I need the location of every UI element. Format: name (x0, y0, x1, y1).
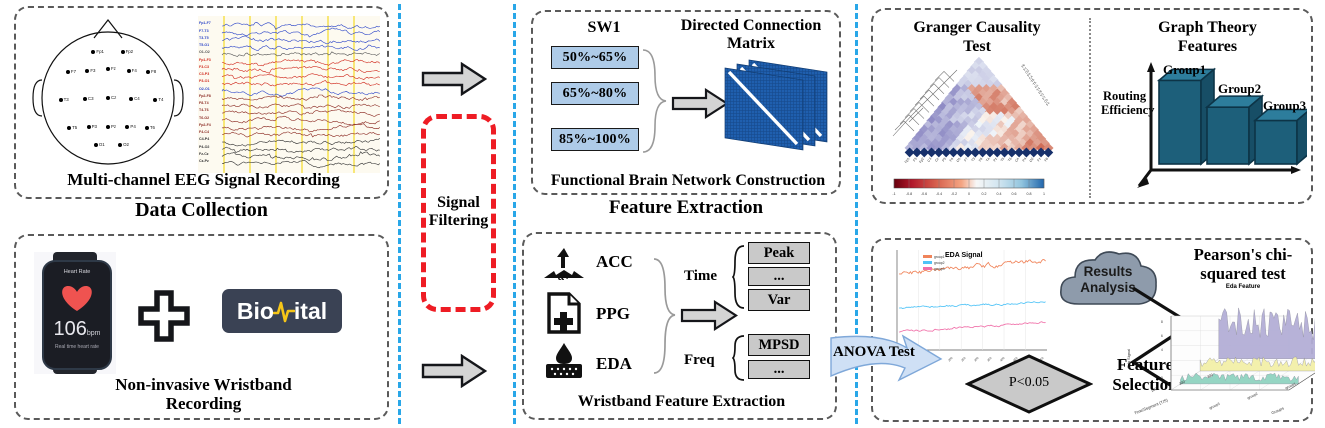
arrow-signals-to-features (680, 300, 738, 331)
electrode-label-c3: C3 (88, 96, 94, 101)
signal-label-ppg: PPG (596, 304, 630, 324)
y-tick-0: group1 (1285, 382, 1297, 391)
svg-text:T6: T6 (1007, 157, 1013, 163)
electrode-label-p4: P4 (130, 124, 135, 129)
z-tick-1: 2 (1161, 362, 1163, 366)
svg-text:T3: T3 (971, 157, 977, 163)
panel-eeg-recording: Fp1Fp2F7F3FzF4F8T3C3CzC4T4T5P3PzP4T6O1O2… (14, 6, 389, 199)
sw1-title: SW1 (558, 20, 650, 37)
feature-box-freq-ellipsis[interactable]: ... (748, 360, 810, 379)
watch-subtitle: Real time heart rate (44, 344, 110, 350)
waveform-v-icon (273, 298, 295, 324)
svg-text:a+: a+ (558, 271, 571, 282)
eeg-waveform-svg (198, 16, 380, 173)
electrode-label-t6: T6 (150, 125, 155, 130)
electrode-label-f8: F8 (151, 69, 156, 74)
electrode-group: Fp1Fp2F7F3FzF4F8T3C3CzC4T4T5P3PzP4T6O1O2 (28, 14, 188, 172)
plus-symbol-icon (138, 290, 190, 347)
z-tick-0: 0 (1161, 376, 1163, 380)
electrode-label-fp1: Fp1 (96, 49, 104, 54)
svg-text:F6: F6 (1044, 157, 1050, 163)
eeg-channel-label: Fz-Cz (199, 152, 209, 156)
divider-mid (513, 4, 516, 424)
biovital-logo: Bio ital (222, 289, 342, 333)
svg-text:F3: F3 (912, 157, 918, 163)
svg-text:T4: T4 (985, 157, 991, 163)
electrode-label-o1: O1 (99, 142, 105, 147)
electrode-c3 (83, 97, 87, 101)
wristband-caption-line2: Recording (16, 395, 391, 413)
svg-text:P3: P3 (941, 157, 947, 163)
sw-band-1[interactable]: 65%~80% (551, 82, 639, 105)
svg-text:group3: group3 (934, 267, 945, 271)
svg-text:F4: F4 (949, 157, 955, 163)
brace-sw-bands (641, 46, 669, 156)
electrode-pz (106, 125, 110, 129)
domain-label-time: Time (684, 268, 717, 285)
electrode-label-c4: C4 (134, 96, 140, 101)
eeg-channel-label: F7-T3 (199, 29, 209, 33)
svg-text:-0.6: -0.6 (921, 192, 927, 196)
arrow-filter-to-features (421, 354, 487, 388)
wristband-features-caption: Wristband Feature Extraction (524, 394, 839, 411)
electrode-o1 (94, 143, 98, 147)
graph-theory-title-line1: Graph Theory (1105, 20, 1310, 37)
svg-text:Fp1: Fp1 (904, 157, 911, 164)
electrode-label-f4: F4 (132, 68, 137, 73)
svg-text:0.6: 0.6 (1012, 192, 1017, 196)
svg-text:-1: -1 (892, 192, 895, 196)
svg-text:Fp2: Fp2 (918, 157, 925, 164)
svg-text:0.2: 0.2 (982, 192, 987, 196)
panel-granger-graph-theory: Granger Causality Test Fp1F3Fp2C3CzP3F4O… (871, 8, 1313, 204)
directed-connection-matrix-icon (715, 56, 835, 160)
eeg-channel-label: T3-T5 (199, 36, 209, 40)
electrode-fp2 (121, 50, 125, 54)
brace-freq-features (732, 334, 746, 382)
watch-heart-rate-title: Heart Rate (44, 269, 110, 275)
eda-icon (543, 342, 585, 380)
feature-box-time-ellipsis[interactable]: ... (748, 267, 810, 286)
y-tick-1: group2 (1247, 392, 1259, 401)
svg-text:T5: T5 (1000, 157, 1006, 163)
eeg-channel-label: F8-T4 (199, 101, 209, 105)
electrode-label-f3: F3 (90, 68, 95, 73)
feature-box-peak[interactable]: Peak (748, 242, 810, 264)
panel-results-analysis: group1group2group30501001502002503003504… (871, 238, 1313, 422)
svg-text:F7: F7 (963, 157, 969, 163)
electrode-label-o2: O2 (123, 142, 129, 147)
electrode-t6 (145, 126, 149, 130)
z-tick-3: 6 (1161, 334, 1163, 338)
axis-label-eda-signal: Eda Signal (1126, 349, 1131, 368)
svg-text:0: 0 (968, 192, 970, 196)
section-label-feature-extraction: Feature Extraction (531, 198, 841, 218)
signal-label-acc: ACC (596, 252, 633, 272)
feature-box-mpsd[interactable]: MPSD (748, 334, 810, 356)
electrode-label-cz: Cz (111, 95, 116, 100)
eda-feature-3d-title: Eda Feature (1183, 284, 1303, 290)
chi-squared-title-line2: squared test (1173, 265, 1313, 282)
ppg-icon (546, 292, 582, 334)
svg-text:0.8: 0.8 (1027, 192, 1032, 196)
eeg-channel-label: F3-C3 (199, 65, 209, 69)
electrode-f4 (127, 69, 131, 73)
z-tick-4: 8 (1161, 320, 1163, 324)
feature-box-var[interactable]: Var (748, 289, 810, 311)
smartwatch-image: Heart Rate 106bpm Real time heart rate (34, 252, 116, 374)
eeg-channel-label: P3-O1 (199, 79, 209, 83)
panel-brain-network: SW1 50%~65% 65%~80% 85%~100% Directed Co… (531, 10, 841, 195)
eeg-channel-label: C3-P3 (199, 72, 209, 76)
brace-time-features (732, 244, 746, 310)
electrode-label-fz: Fz (111, 66, 116, 71)
eeg-channel-label: Fp2-F4 (199, 123, 211, 127)
p-value-diamond: P<0.05 (965, 353, 1093, 415)
anova-test-label: ANOVA Test (833, 344, 915, 361)
watch-hr-unit: bpm (87, 330, 101, 337)
svg-text:0.4: 0.4 (997, 192, 1002, 196)
svg-text:O1: O1 (956, 157, 962, 163)
eeg-head-map: Fp1Fp2F7F3FzF4F8T3C3CzC4T4T5P3PzP4T6O1O2 (28, 14, 188, 172)
electrode-f7 (66, 70, 70, 74)
eeg-channel-label: O1-O2 (199, 50, 210, 54)
eeg-channel-label: Cz-Pz (199, 159, 209, 163)
electrode-t5 (67, 126, 71, 130)
divider-left (398, 4, 401, 424)
svg-text:C3: C3 (927, 157, 933, 163)
electrode-label-p3: P3 (92, 124, 97, 129)
brace-signals (652, 256, 678, 376)
granger-colorbar: -1-0.8-0.6-0.4-0.200.20.40.60.81 (889, 178, 1049, 197)
axis-label-groups: Groups (1271, 406, 1285, 416)
eeg-channel-label: C4-P4 (199, 137, 209, 141)
electrode-label-t4: T4 (158, 97, 163, 102)
svg-text:group2: group2 (934, 261, 945, 265)
axis-label-time-segment: Time/Segment (T/S) (1133, 397, 1168, 415)
svg-text:-0.4: -0.4 (936, 192, 942, 196)
granger-title-line1: Granger Causality (877, 20, 1077, 37)
arrow-eeg-to-filter (421, 62, 487, 96)
y-tick-2: group3 (1209, 402, 1221, 411)
svg-text:200: 200 (947, 356, 954, 363)
brain-network-caption: Functional Brain Network Construction (533, 173, 843, 190)
electrode-label-t3: T3 (64, 97, 69, 102)
electrode-c4 (129, 97, 133, 101)
eeg-trace-plot: Fp1-F7F7-T3T3-T5T5-O1O1-O2Fp1-F3F3-C3C3-… (198, 16, 380, 173)
eeg-channel-label: P4-O2 (199, 145, 209, 149)
x-tick-2: 300 (1206, 373, 1213, 379)
matrix-title-line1: Directed Connection (659, 18, 843, 35)
svg-text:Pz: Pz (993, 157, 999, 163)
domain-label-freq: Freq (684, 352, 715, 369)
inner-divider (1089, 18, 1091, 198)
electrode-label-fp2: Fp2 (126, 49, 134, 54)
bar-label-group2: Group2 (1218, 81, 1261, 97)
electrode-fp1 (91, 50, 95, 54)
eeg-channel-label: Fp1-F3 (199, 58, 211, 62)
section-label-data-collection: Data Collection (14, 200, 389, 221)
electrode-label-pz: Pz (111, 124, 116, 129)
p-value-text: P<0.05 (965, 375, 1093, 391)
eeg-caption: Multi-channel EEG Signal Recording (16, 171, 391, 189)
electrode-fz (106, 67, 110, 71)
x-tick-1: 200 (1178, 380, 1185, 386)
svg-text:-0.2: -0.2 (951, 192, 957, 196)
signal-filtering-label-line2: Filtering (421, 213, 496, 230)
electrode-label-t5: T5 (72, 125, 77, 130)
eeg-channel-label: F4-C4 (199, 130, 209, 134)
eda-plot-title: EDA Signal (945, 252, 982, 259)
eeg-channel-label: T4-T6 (199, 108, 209, 112)
eeg-channel-label: Fp2-F8 (199, 94, 211, 98)
biovital-text-bio: Bio (237, 298, 274, 325)
electrode-f3 (85, 69, 89, 73)
sw-band-2[interactable]: 85%~100% (551, 128, 639, 151)
granger-heatmap: Fp1F3Fp2C3CzP3F4O1F7T3F8T4PzT5T6C4P4O2Fz… (879, 56, 1079, 171)
cloud-line1: Results (1053, 264, 1163, 279)
x-tick-0: 100 (1150, 387, 1157, 393)
chi-squared-title-line1: Pearson's chi- (1173, 246, 1313, 263)
eeg-channel-label: T5-O1 (199, 43, 209, 47)
electrode-f8 (146, 70, 150, 74)
eeg-channel-label: Fp1-F7 (199, 21, 211, 25)
panel-wristband-recording: Heart Rate 106bpm Real time heart rate B… (14, 234, 389, 420)
matrix-title-line2: Matrix (659, 36, 843, 53)
electrode-p3 (87, 125, 91, 129)
svg-text:Fz: Fz (1036, 157, 1042, 163)
svg-text:-0.8: -0.8 (906, 192, 912, 196)
z-tick-2: 4 (1161, 348, 1163, 352)
electrode-o2 (118, 143, 122, 147)
svg-text:Cz: Cz (934, 157, 940, 163)
svg-text:F4: F4 (1045, 101, 1051, 107)
svg-text:group1: group1 (934, 255, 945, 259)
eeg-channel-label: O2-O1 (199, 87, 210, 91)
svg-text:1: 1 (1043, 192, 1045, 196)
watch-body: Heart Rate 106bpm Real time heart rate (42, 260, 112, 370)
electrode-label-f7: F7 (71, 69, 76, 74)
wristband-caption-line1: Non-invasive Wristband (16, 376, 391, 394)
bar-label-group3: Group3 (1263, 98, 1306, 114)
accelerometer-icon: a+ (542, 246, 586, 282)
bar-label-group1: Group1 (1163, 62, 1206, 78)
signal-filtering-label-line1: Signal (421, 195, 496, 212)
svg-text:F8: F8 (978, 157, 984, 163)
watch-hr-value: 106 (54, 318, 87, 340)
svg-text:P4: P4 (1022, 157, 1028, 163)
biovital-text-ital: ital (294, 298, 327, 325)
eeg-channel-label: T6-O2 (199, 116, 209, 120)
granger-title-line2: Test (877, 39, 1077, 56)
panel-wristband-features: a+ ACC PPG EDA Time Peak ... Var Freq (522, 232, 837, 420)
svg-text:C4: C4 (1014, 157, 1020, 163)
svg-text:O2: O2 (1029, 157, 1035, 163)
electrode-t4 (153, 98, 157, 102)
signal-label-eda: EDA (596, 354, 632, 374)
electrode-cz (106, 96, 110, 100)
sw-band-0[interactable]: 50%~65% (551, 46, 639, 69)
electrode-t3 (59, 98, 63, 102)
graph-theory-title-line2: Features (1105, 39, 1310, 56)
heart-icon (44, 279, 110, 313)
electrode-p4 (125, 125, 129, 129)
